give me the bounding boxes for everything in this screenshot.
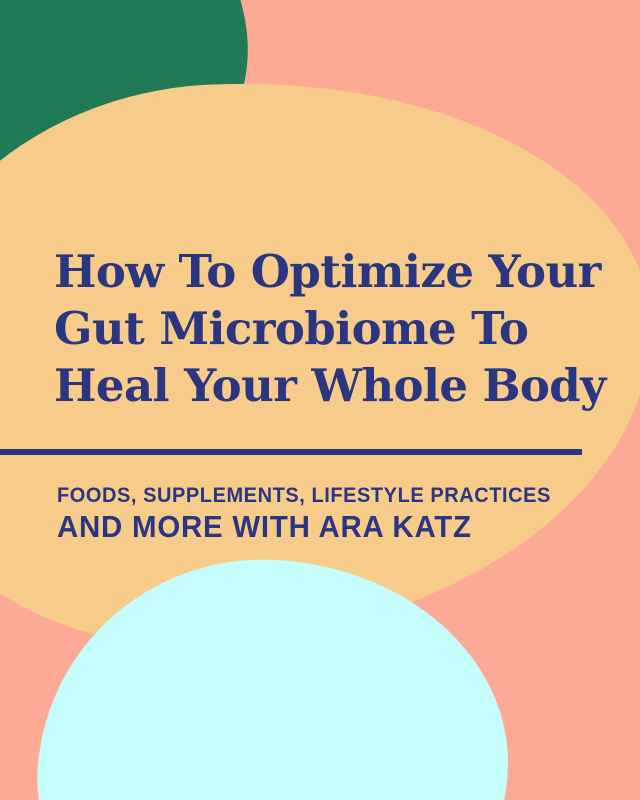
headline-line-1: How To Optimize Your bbox=[54, 243, 614, 300]
headline: How To Optimize Your Gut Microbiome To H… bbox=[54, 243, 614, 414]
headline-line-3: Heal Your Whole Body bbox=[54, 357, 614, 414]
divider-rule bbox=[0, 449, 582, 455]
content-layer: How To Optimize Your Gut Microbiome To H… bbox=[0, 0, 640, 800]
subtitle-line-1: FOODS, SUPPLEMENTS, LIFESTYLE PRACTICES bbox=[57, 482, 551, 508]
poster-canvas: How To Optimize Your Gut Microbiome To H… bbox=[0, 0, 640, 800]
headline-line-2: Gut Microbiome To bbox=[54, 300, 614, 357]
subtitle: FOODS, SUPPLEMENTS, LIFESTYLE PRACTICES … bbox=[57, 482, 588, 546]
subtitle-line-2: AND MORE WITH ARA KATZ bbox=[57, 508, 562, 546]
